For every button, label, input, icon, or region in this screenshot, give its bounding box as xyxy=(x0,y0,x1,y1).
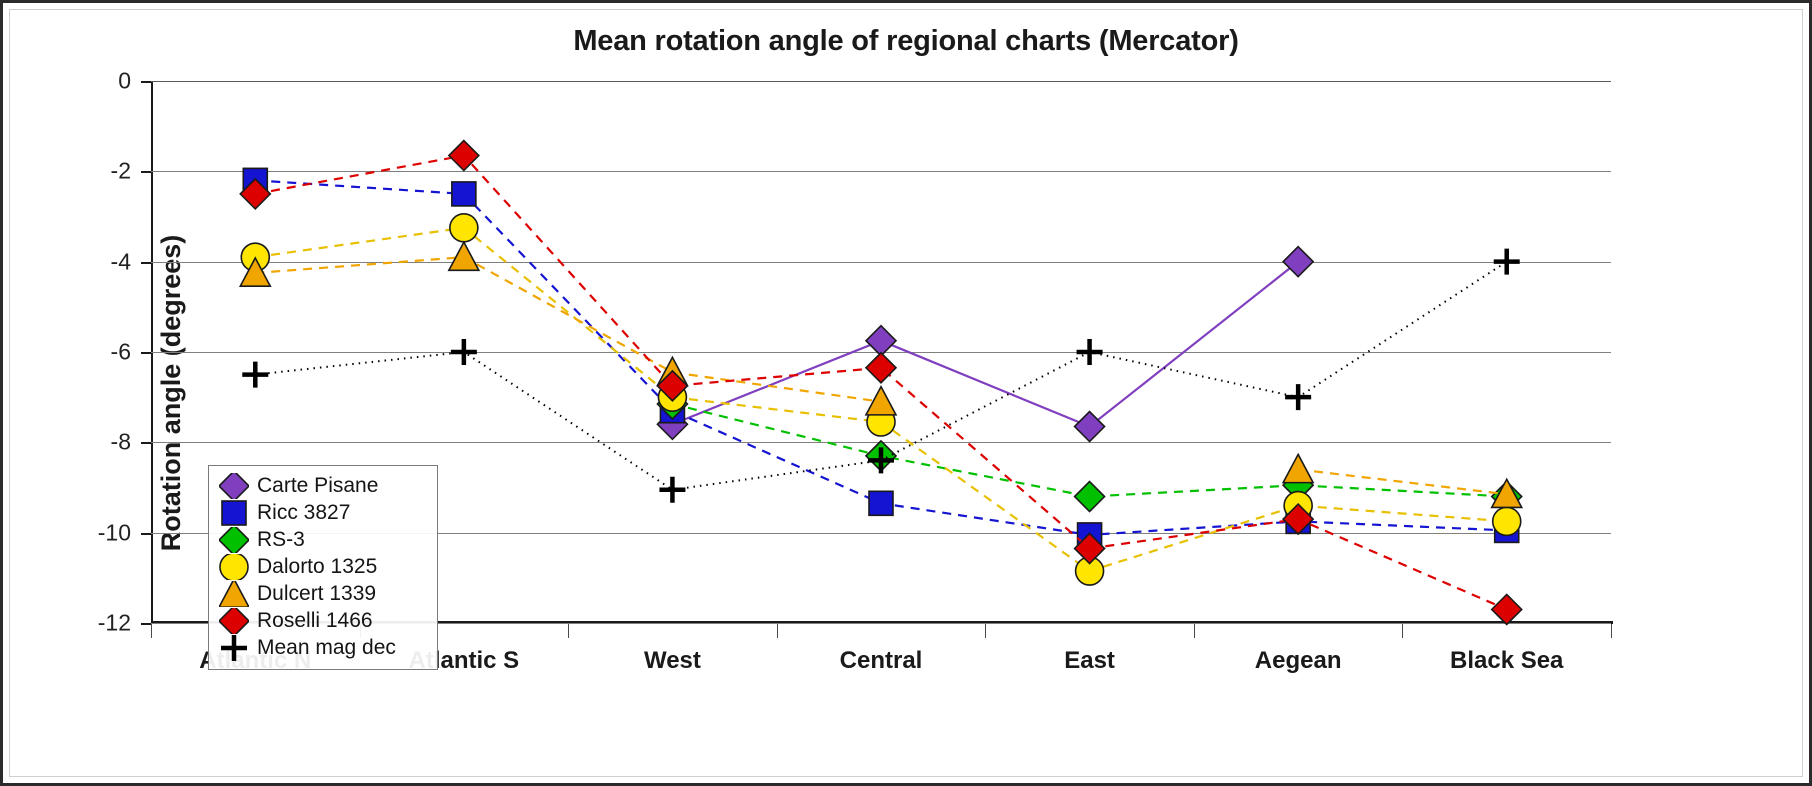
data-point-plus xyxy=(1077,339,1103,365)
series-line xyxy=(672,262,1298,427)
data-point-triangle xyxy=(219,581,249,607)
y-tick-mark xyxy=(141,171,151,173)
legend-label: Carte Pisane xyxy=(257,474,378,498)
legend-label: Dulcert 1339 xyxy=(257,582,376,606)
data-point-square xyxy=(869,491,893,515)
legend-diamond-icon xyxy=(217,608,251,634)
y-tick-mark xyxy=(141,81,151,83)
legend-triangle-icon xyxy=(217,581,251,607)
data-point-triangle xyxy=(449,242,479,270)
chart-frame: Mean rotation angle of regional charts (… xyxy=(0,0,1812,786)
x-tick-mark xyxy=(1611,624,1612,638)
legend-item[interactable]: Dalorto 1325 xyxy=(217,553,429,580)
data-point-diamond xyxy=(1492,594,1522,624)
legend-item[interactable]: Roselli 1466 xyxy=(217,607,429,634)
legend-label: Mean mag dec xyxy=(257,636,396,660)
data-point-plus xyxy=(1285,384,1311,410)
x-tick-mark xyxy=(777,624,778,638)
data-point-diamond xyxy=(1283,247,1313,277)
y-tick-mark xyxy=(141,533,151,535)
data-point-diamond xyxy=(219,473,249,499)
x-category-label: Central xyxy=(840,647,923,675)
y-tick-label: 0 xyxy=(71,68,131,95)
x-tick-mark xyxy=(1194,624,1195,638)
data-point-circle xyxy=(220,554,248,580)
legend-item[interactable]: Mean mag dec xyxy=(217,634,429,661)
legend-label: RS-3 xyxy=(257,528,305,552)
legend-item[interactable]: Carte Pisane xyxy=(217,472,429,499)
legend-diamond-icon xyxy=(217,473,251,499)
y-tick-mark xyxy=(141,262,151,264)
x-tick-mark xyxy=(985,624,986,638)
data-point-diamond xyxy=(219,608,249,634)
data-point-plus xyxy=(1494,249,1520,275)
y-tick-mark xyxy=(141,623,151,625)
series-line xyxy=(255,257,881,402)
y-tick-mark xyxy=(141,442,151,444)
legend-circle-icon xyxy=(217,554,251,580)
y-tick-label: -6 xyxy=(71,339,131,366)
chart-title: Mean rotation angle of regional charts (… xyxy=(3,25,1809,58)
legend-item[interactable]: Ricc 3827 xyxy=(217,499,429,526)
y-tick-label: -12 xyxy=(71,610,131,637)
data-point-diamond xyxy=(866,326,896,356)
x-tick-mark xyxy=(1402,624,1403,638)
data-point-plus xyxy=(242,362,268,388)
data-point-square xyxy=(222,501,246,525)
x-category-label: Aegean xyxy=(1255,647,1342,675)
data-point-square xyxy=(452,182,476,206)
y-tick-label: -10 xyxy=(71,519,131,546)
x-category-label: West xyxy=(644,647,701,675)
legend-square-icon xyxy=(217,500,251,526)
y-tick-label: -4 xyxy=(71,248,131,275)
data-point-diamond xyxy=(1075,482,1105,512)
x-tick-mark xyxy=(151,624,152,638)
chart-legend: Carte PisaneRicc 3827RS-3Dalorto 1325Dul… xyxy=(208,465,438,670)
data-point-circle xyxy=(450,214,478,242)
legend-plus-icon xyxy=(217,635,251,661)
data-point-plus xyxy=(221,635,247,661)
y-tick-label: -8 xyxy=(71,429,131,456)
legend-diamond-icon xyxy=(217,527,251,553)
series-2 xyxy=(657,389,1521,512)
data-point-triangle xyxy=(1283,454,1313,482)
data-point-diamond xyxy=(866,353,896,383)
x-category-label: East xyxy=(1064,647,1115,675)
legend-item[interactable]: RS-3 xyxy=(217,526,429,553)
legend-label: Dalorto 1325 xyxy=(257,555,377,579)
data-point-diamond xyxy=(219,527,249,553)
data-point-circle xyxy=(1493,507,1521,535)
legend-item[interactable]: Dulcert 1339 xyxy=(217,580,429,607)
legend-label: Roselli 1466 xyxy=(257,609,373,633)
data-point-plus xyxy=(451,339,477,365)
x-category-label: Black Sea xyxy=(1450,647,1563,675)
y-tick-label: -2 xyxy=(71,158,131,185)
data-point-diamond xyxy=(1075,412,1105,442)
y-tick-mark xyxy=(141,352,151,354)
data-point-plus xyxy=(659,477,685,503)
series-0 xyxy=(657,247,1313,442)
x-tick-mark xyxy=(568,624,569,638)
legend-label: Ricc 3827 xyxy=(257,501,350,525)
